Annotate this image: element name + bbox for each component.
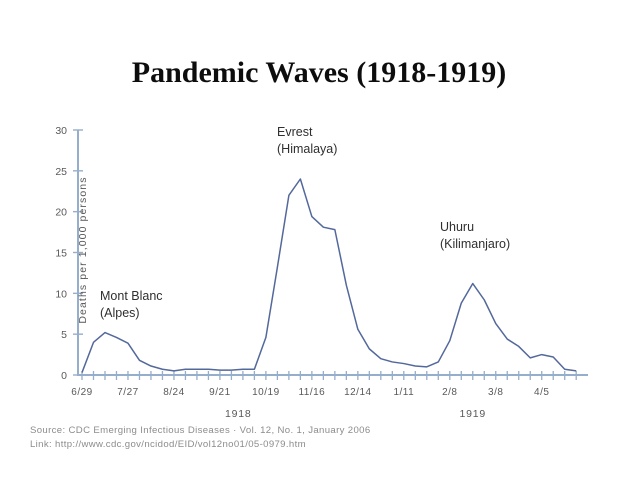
svg-text:30: 30 [55,125,67,137]
svg-text:4/5: 4/5 [534,387,549,398]
pandemic-waves-chart: 051015202530 6/297/278/249/2110/1911/161… [0,118,638,418]
svg-text:1/11: 1/11 [393,387,414,398]
annotation-mont-blanc-line1: Mont Blanc [100,288,163,305]
svg-text:0: 0 [61,370,67,382]
svg-text:5: 5 [61,329,67,341]
y-axis-tick-labels: 051015202530 [55,125,67,382]
svg-text:6/29: 6/29 [71,387,92,398]
svg-text:8/24: 8/24 [163,387,184,398]
svg-text:1919: 1919 [459,408,486,418]
svg-text:1918: 1918 [225,408,252,418]
svg-text:25: 25 [55,166,67,178]
x-axis-year-labels: 19181919 [225,408,486,418]
svg-text:10: 10 [55,288,67,300]
svg-text:20: 20 [55,207,67,219]
svg-text:2/8: 2/8 [442,387,457,398]
annotation-mont-blanc: Mont Blanc (Alpes) [100,288,163,322]
svg-text:7/27: 7/27 [117,387,138,398]
source-footnote: Source: CDC Emerging Infectious Diseases… [30,424,371,452]
annotation-uhuru: Uhuru (Kilimanjaro) [440,219,510,253]
svg-text:12/14: 12/14 [344,387,372,398]
svg-text:3/8: 3/8 [488,387,503,398]
annotation-everest: Evrest (Himalaya) [277,124,337,158]
annotation-everest-line2: (Himalaya) [277,141,337,158]
svg-text:11/16: 11/16 [298,387,325,398]
annotation-everest-line1: Evrest [277,124,337,141]
annotation-uhuru-line2: (Kilimanjaro) [440,236,510,253]
y-axis-title: Deaths per 1,000 persons [77,150,89,350]
slide-canvas: Pandemic Waves (1918-1919) 051015202530 … [0,0,638,479]
deaths-series-line [82,179,576,373]
x-axis-tick-labels: 6/297/278/249/2110/1911/1612/141/112/83/… [71,387,549,398]
chart-svg: 051015202530 6/297/278/249/2110/1911/161… [0,118,638,418]
svg-text:10/19: 10/19 [252,387,280,398]
source-link-line: Link: http://www.cdc.gov/ncidod/EID/vol1… [30,438,371,452]
svg-text:9/21: 9/21 [209,387,230,398]
page-title: Pandemic Waves (1918-1919) [0,56,638,90]
source-line: Source: CDC Emerging Infectious Diseases… [30,424,371,438]
annotation-uhuru-line1: Uhuru [440,219,510,236]
svg-text:15: 15 [55,248,67,260]
annotation-mont-blanc-line2: (Alpes) [100,305,163,322]
